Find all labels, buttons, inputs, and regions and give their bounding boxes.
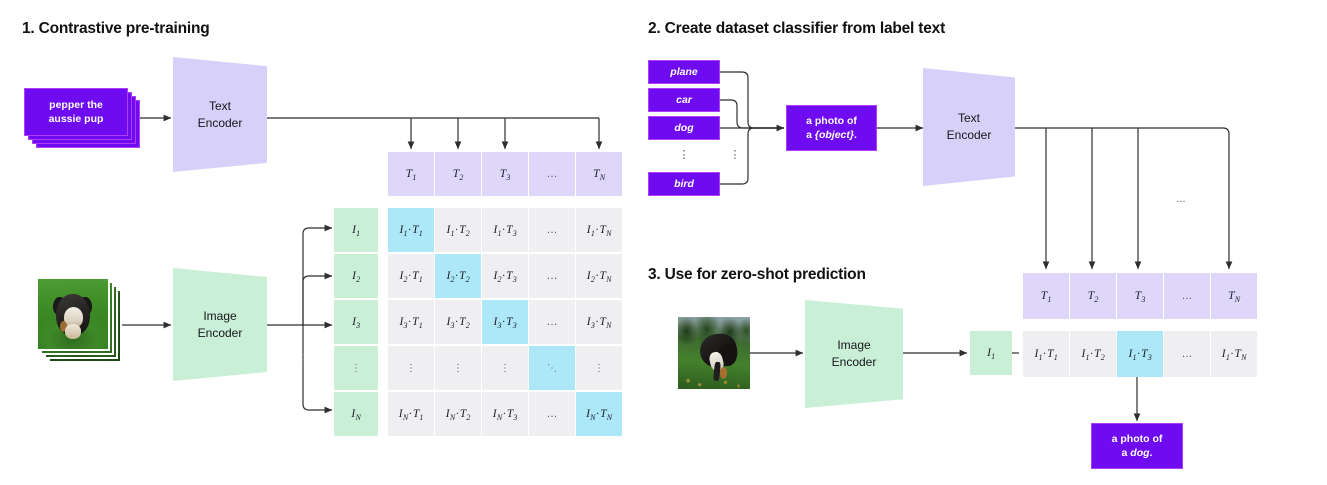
matrix-cell: ⋮ bbox=[435, 346, 481, 390]
matrix-cell: I2·T3 bbox=[482, 254, 528, 298]
text-embedding-cell: TN bbox=[1211, 273, 1257, 319]
text-encoder-2-bus-ellipsis: ... bbox=[1168, 193, 1194, 205]
text-embedding-cell: T2 bbox=[435, 152, 481, 196]
text-embedding-cell: T2 bbox=[1070, 273, 1116, 319]
prediction-line-1: a photo of bbox=[1112, 432, 1163, 446]
query-photo bbox=[678, 317, 750, 389]
matrix-cell: I3·T1 bbox=[388, 300, 434, 344]
image-embedding-cell: I1 bbox=[334, 208, 378, 252]
image-encoder-3-line-2: Encoder bbox=[832, 354, 877, 371]
matrix-cell: I2·T1 bbox=[388, 254, 434, 298]
matrix-cell: … bbox=[529, 254, 575, 298]
text-embedding-cell: TN bbox=[576, 152, 622, 196]
section-2-heading: 2. Create dataset classifier from label … bbox=[648, 20, 945, 38]
prompt-line-2: a {object}. bbox=[806, 128, 857, 142]
matrix-cell: ⋮ bbox=[388, 346, 434, 390]
query-image-embedding: I1 bbox=[970, 331, 1012, 375]
prompt-template-box: a photo of a {object}. bbox=[786, 105, 877, 151]
prediction-class-token: dog bbox=[1130, 447, 1149, 459]
text-embedding-cell: T1 bbox=[1023, 273, 1069, 319]
image-embedding-cell: I2 bbox=[334, 254, 378, 298]
matrix-cell: IN·T1 bbox=[388, 392, 434, 436]
caption-line-1: pepper the bbox=[49, 98, 103, 112]
image-branch-ellipsis: ⋮ bbox=[297, 352, 309, 365]
label-chip-plane: plane bbox=[648, 60, 720, 84]
matrix-cell: I1·T1 bbox=[388, 208, 434, 252]
image-encoder-1-line-1: Image bbox=[203, 308, 236, 325]
image-encoder-3: Image Encoder bbox=[805, 300, 903, 408]
matrix-cell: I1·T2 bbox=[435, 208, 481, 252]
image-embedding-cell: IN bbox=[334, 392, 378, 436]
matrix-cell: I2·T2 bbox=[435, 254, 481, 298]
text-encoder-2-line-1: Text bbox=[958, 110, 980, 127]
image-embedding-cell: ⋮ bbox=[334, 346, 378, 390]
similarity-cell: I1·TN bbox=[1211, 331, 1257, 377]
text-encoder-1-line-2: Encoder bbox=[198, 115, 243, 132]
matrix-cell: I2·TN bbox=[576, 254, 622, 298]
matrix-cell: I3·T2 bbox=[435, 300, 481, 344]
caption-line-2: aussie pup bbox=[49, 112, 104, 126]
matrix-cell: IN·T3 bbox=[482, 392, 528, 436]
text-encoder-2-line-2: Encoder bbox=[947, 127, 992, 144]
image-encoder-1: Image Encoder bbox=[173, 268, 267, 381]
text-embedding-cell: T3 bbox=[482, 152, 528, 196]
prediction-output-box: a photo of a dog. bbox=[1091, 423, 1183, 469]
label-list-ellipsis: ⋮ bbox=[648, 148, 720, 161]
text-encoder-1-line-1: Text bbox=[209, 98, 231, 115]
matrix-cell: ⋱ bbox=[529, 346, 575, 390]
label-chip-dog: dog bbox=[648, 116, 720, 140]
label-chip-car: car bbox=[648, 88, 720, 112]
matrix-cell: ⋮ bbox=[576, 346, 622, 390]
section-3-heading: 3. Use for zero-shot prediction bbox=[648, 266, 866, 284]
text-encoder-1: Text Encoder bbox=[173, 57, 267, 172]
matrix-cell: IN·T2 bbox=[435, 392, 481, 436]
image-stack-front-photo bbox=[36, 277, 110, 351]
section-1-heading: 1. Contrastive pre-training bbox=[22, 20, 210, 38]
similarity-cell: I1·T3 bbox=[1117, 331, 1163, 377]
clip-architecture-diagram: 1. Contrastive pre-training pepper the a… bbox=[0, 0, 1327, 485]
matrix-cell: IN·TN bbox=[576, 392, 622, 436]
matrix-cell: I3·T3 bbox=[482, 300, 528, 344]
prompt-object-token: {object} bbox=[815, 129, 854, 141]
prediction-line-2: a dog. bbox=[1122, 446, 1153, 460]
matrix-cell: … bbox=[529, 208, 575, 252]
label-chip-bird: bird bbox=[648, 172, 720, 196]
text-embedding-cell: … bbox=[529, 152, 575, 196]
image-encoder-3-line-1: Image bbox=[837, 337, 870, 354]
text-encoder-2: Text Encoder bbox=[923, 68, 1015, 186]
matrix-cell: I1·T3 bbox=[482, 208, 528, 252]
matrix-cell: … bbox=[529, 300, 575, 344]
text-embedding-cell: T3 bbox=[1117, 273, 1163, 319]
similarity-cell: … bbox=[1164, 331, 1210, 377]
image-encoder-1-line-2: Encoder bbox=[198, 325, 243, 342]
matrix-cell: I1·TN bbox=[576, 208, 622, 252]
similarity-cell: I1·T2 bbox=[1070, 331, 1116, 377]
prompt-line-1: a photo of bbox=[806, 114, 857, 128]
matrix-cell: ⋮ bbox=[482, 346, 528, 390]
caption-card: pepper the aussie pup bbox=[24, 88, 128, 136]
image-embedding-cell: I3 bbox=[334, 300, 378, 344]
matrix-cell: … bbox=[529, 392, 575, 436]
text-embedding-cell: … bbox=[1164, 273, 1210, 319]
matrix-cell: I3·TN bbox=[576, 300, 622, 344]
image-stack bbox=[36, 277, 132, 373]
similarity-cell: I1·T1 bbox=[1023, 331, 1069, 377]
text-embedding-cell: T1 bbox=[388, 152, 434, 196]
label-wire-ellipsis: ⋮ bbox=[728, 148, 742, 161]
